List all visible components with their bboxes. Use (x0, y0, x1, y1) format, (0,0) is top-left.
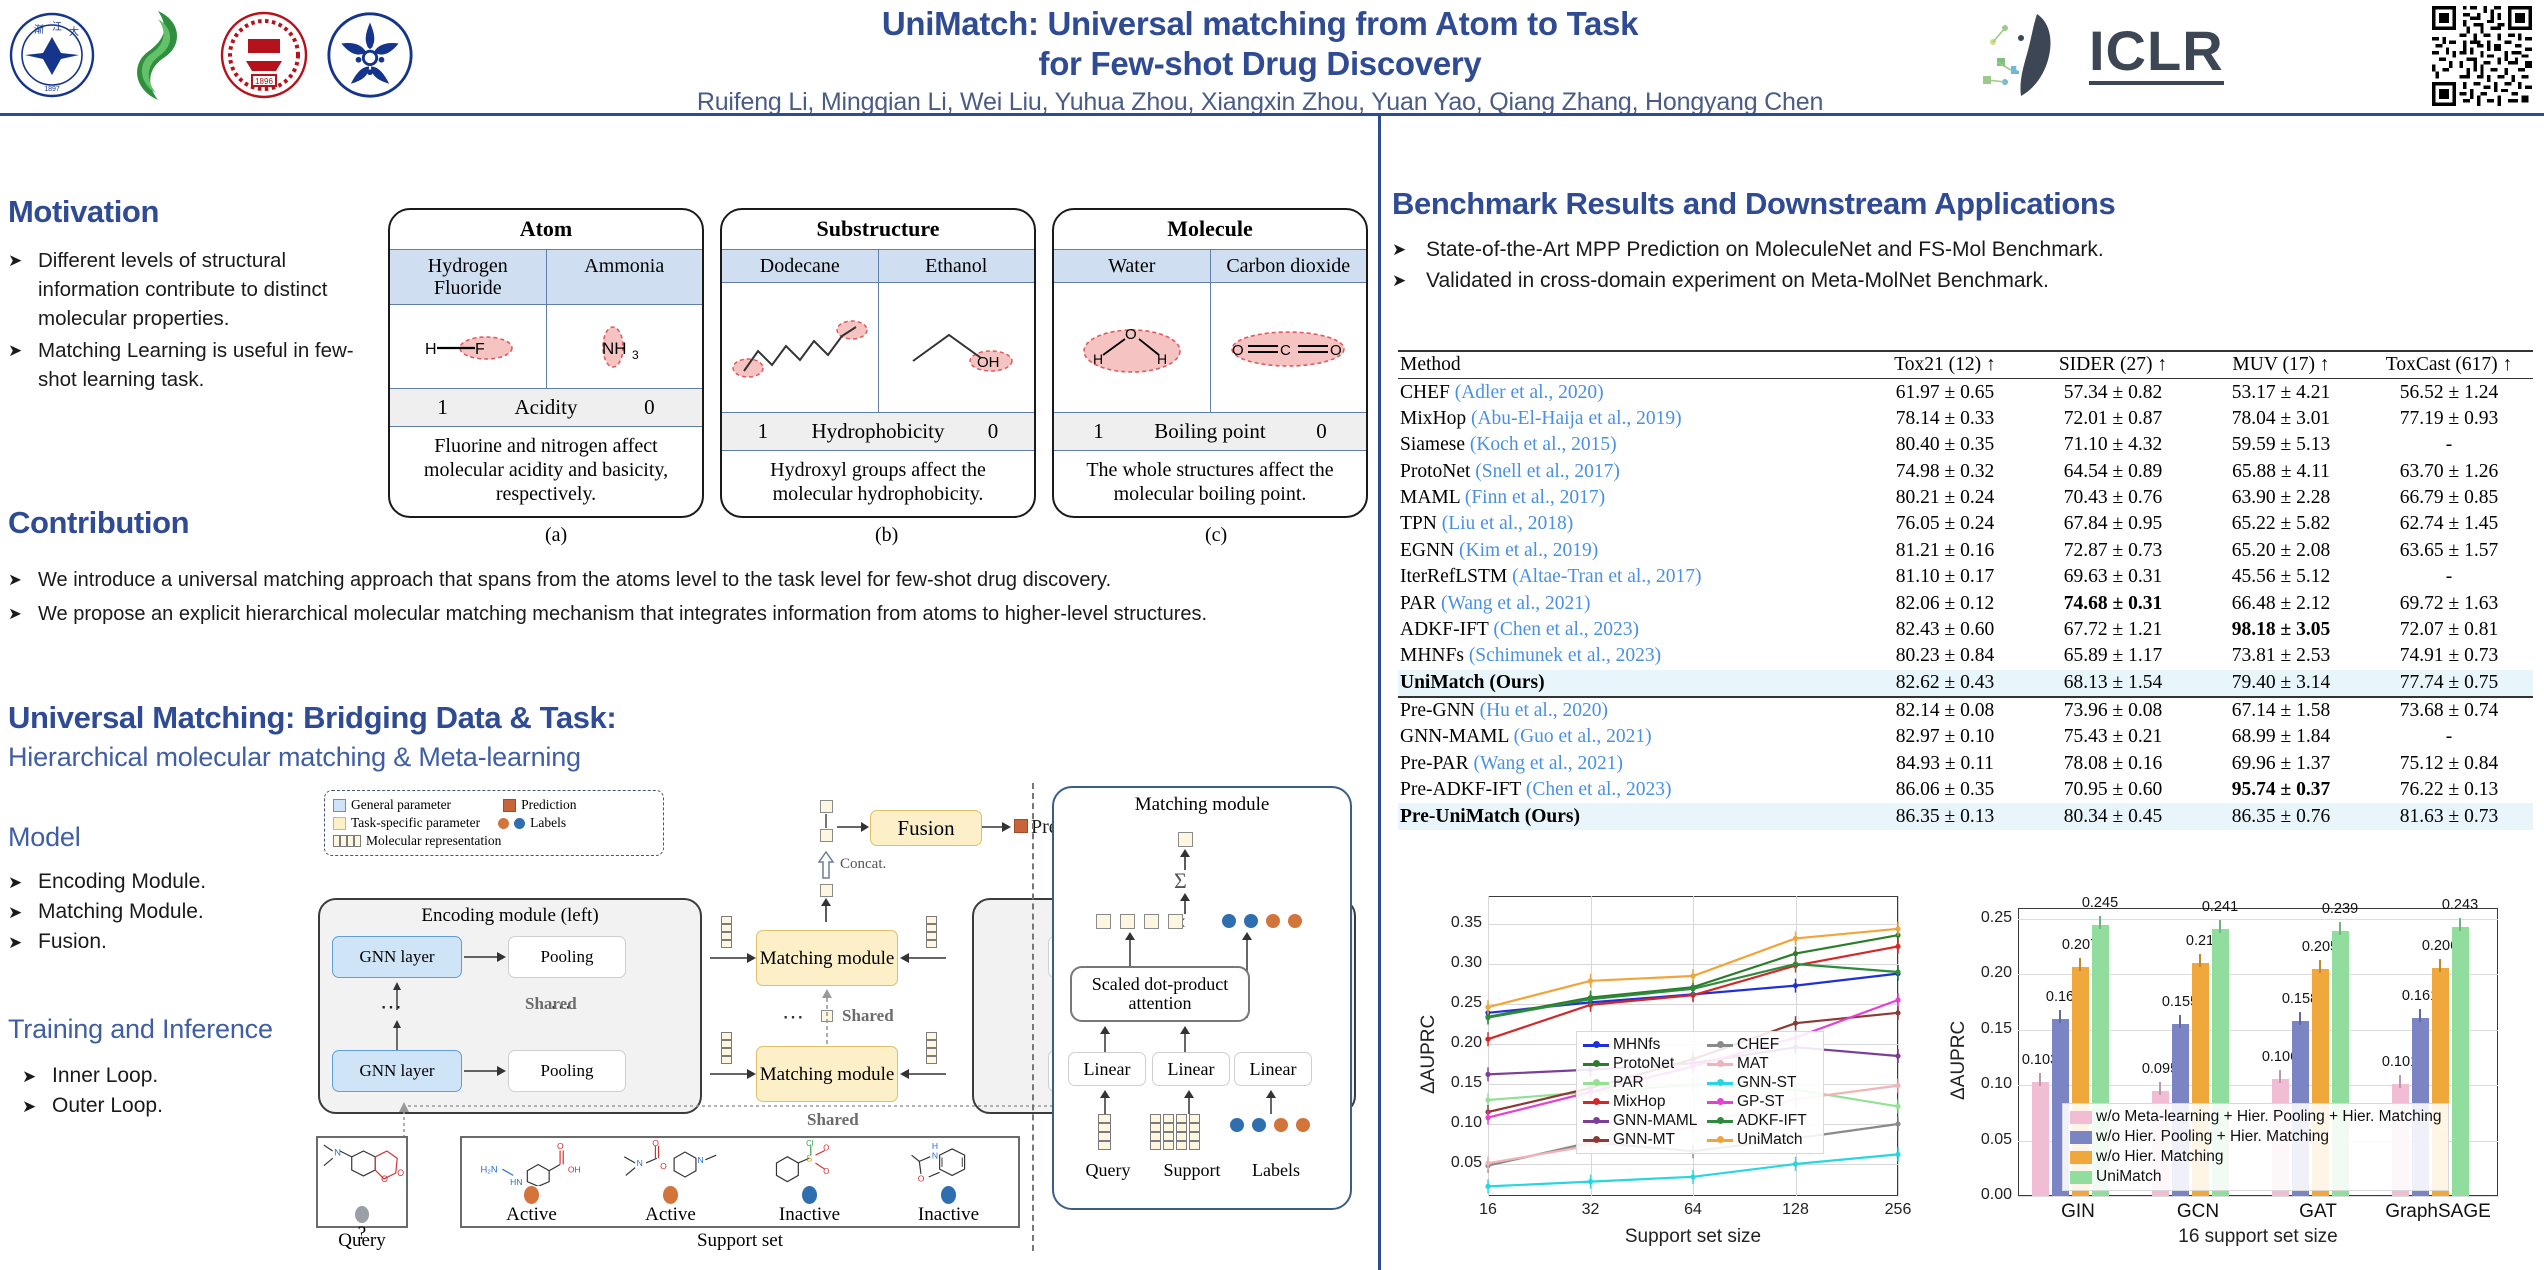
charts-area: 0.050.100.150.200.250.300.35163264128256… (1392, 878, 2542, 1270)
property-name: Hydrophobicity (811, 419, 944, 444)
linear-support: Linear (1152, 1052, 1230, 1086)
legend-label: w/o Meta-learning + Hier. Pooling + Hier… (2096, 1108, 2441, 1126)
cell-value: 74.91 ± 0.73 (2365, 643, 2533, 669)
bar-chart: 0.000.050.100.150.200.250.1030.160.2070.… (1922, 878, 2542, 1270)
citation: (Abu-El-Haija et al., 2019) (1471, 408, 1682, 429)
concat-up-arrow-icon (820, 898, 834, 922)
cell-value: 45.56 ± 5.12 (2197, 564, 2365, 590)
cell-method: ProtoNet (Snell et al., 2017) (1398, 459, 1861, 485)
y-tick-label: 0.10 (1430, 1114, 1482, 1132)
pooling-left-bottom: Pooling (508, 1050, 626, 1092)
mm-support-label: Support (1144, 1160, 1240, 1181)
legend-label: ADKF-IFT (1737, 1112, 1807, 1130)
gridline-x (1898, 896, 1899, 1196)
table-row: IterRefLSTM (Altae-Tran et al., 2017)81.… (1398, 564, 2533, 590)
x-tick-label: 16 (1466, 1201, 1510, 1219)
arrow-icon (1123, 930, 1137, 968)
active-label-dot-icon (663, 1186, 678, 1204)
svg-text:N: N (697, 1155, 703, 1165)
cell-value: 64.54 ± 0.89 (2029, 459, 2197, 485)
property-name: Acidity (514, 395, 577, 420)
cell-value: 74.68 ± 0.31 (2029, 590, 2197, 616)
support-item: H N O Inactive (879, 1138, 1018, 1226)
cell-value: 80.40 ± 0.35 (1861, 432, 2029, 458)
cell-value: 72.01 ± 0.87 (2029, 406, 2197, 432)
concat-output-token-icon (820, 884, 833, 897)
support-set-label: Support set (460, 1230, 1020, 1252)
cell-value: 68.13 ± 1.54 (2029, 670, 2197, 697)
label-blue-dot-icon (514, 818, 525, 829)
error-bar (2199, 954, 2201, 967)
model-bullet-list: Encoding Module. Matching Module. Fusion… (8, 867, 308, 957)
citation: (Guo et al., 2021) (1514, 726, 1652, 747)
panel-property-row: 1 Hydrophobicity 0 (722, 413, 1034, 451)
benchmark-bullet: State-of-the-Art MPP Prediction on Molec… (1392, 234, 2532, 265)
zhejiang-university-logo: 1897 渐 江 大 (8, 2, 96, 107)
arrow-icon (1098, 1088, 1112, 1114)
support-item: H₂N HN O OH Active (462, 1138, 601, 1226)
col-method: Method (1398, 351, 1861, 379)
cell-method: ADKF-IFT (Chen et al., 2023) (1398, 617, 1861, 643)
svg-text:O: O (397, 1168, 404, 1178)
table-row: TPN (Liu et al., 2018)76.05 ± 0.2467.84 … (1398, 511, 2533, 537)
header-divider (0, 113, 2544, 116)
x-tick-label: GCN (2138, 1201, 2258, 1223)
bar-value-label: 0.245 (2074, 895, 2126, 911)
citation: (Wang et al., 2021) (1441, 593, 1591, 614)
cell-method: CHEF (Adler et al., 2020) (1398, 379, 1861, 406)
cell-method: MHNFs (Schimunek et al., 2023) (1398, 643, 1861, 669)
legend-swatch-icon (2070, 1111, 2092, 1124)
mm-attention-tokens (1096, 914, 1183, 929)
mm-query-tokens-icon (1098, 1114, 1111, 1150)
mm-bottom-label-dots (1230, 1118, 1310, 1132)
svg-text:O: O (1125, 326, 1137, 343)
error-bar (2039, 1073, 2041, 1086)
legend-swatch-icon (1707, 1082, 1733, 1085)
universal-matching-section: Universal Matching: Bridging Data & Task… (8, 700, 908, 773)
x-tick-label: 256 (1876, 1201, 1920, 1219)
property-value-left: 1 (758, 419, 769, 444)
svg-text:O: O (917, 1174, 924, 1184)
support-item: S Cl O O Inactive (740, 1138, 879, 1226)
cell-value: 65.88 ± 4.11 (2197, 459, 2365, 485)
legend-swatch-icon (1707, 1101, 1733, 1104)
cell-value: 65.89 ± 1.17 (2029, 643, 2197, 669)
dodecane-structure-icon (722, 283, 879, 412)
cell-method: Pre-GNN (Hu et al., 2020) (1398, 697, 1861, 724)
x-tick-label: 64 (1671, 1201, 1715, 1219)
property-value-right: 0 (1316, 419, 1327, 444)
svg-text:大: 大 (69, 25, 79, 38)
ammonia-structure-icon: NH 3 (547, 305, 703, 388)
molecule-name: Hydrogen Fluoride (390, 250, 547, 304)
arrow-icon (464, 949, 508, 965)
molecule-name: Water (1054, 250, 1211, 282)
arrow-icon (1182, 1088, 1196, 1114)
svg-text:江: 江 (52, 21, 62, 33)
water-structure-icon: O H H (1054, 283, 1211, 412)
cell-value: 69.63 ± 0.31 (2029, 564, 2197, 590)
cell-value: 72.07 ± 0.81 (2365, 617, 2533, 643)
svg-text:3: 3 (632, 348, 639, 362)
cell-value: 72.87 ± 0.73 (2029, 538, 2197, 564)
property-value-right: 0 (988, 419, 999, 444)
fusion-node: Fusion (870, 810, 982, 846)
citation: (Chen et al., 2023) (1526, 779, 1672, 800)
cell-value: 75.43 ± 0.21 (2029, 724, 2197, 750)
cell-method: TPN (Liu et al., 2018) (1398, 511, 1861, 537)
cell-value: 70.95 ± 0.60 (2029, 777, 2197, 803)
cell-value: 81.63 ± 0.73 (2365, 803, 2533, 829)
cell-value: 67.72 ± 1.21 (2029, 617, 2197, 643)
y-tick-label: 0.30 (1430, 954, 1482, 972)
citation: (Altae-Tran et al., 2017) (1512, 566, 1701, 587)
legend-label: CHEF (1737, 1036, 1779, 1054)
legend-item: UniMatch (1707, 1131, 1817, 1149)
training-inference-subsection: Training and Inference Inner Loop. Outer… (8, 1014, 328, 1121)
cell-value: 65.20 ± 2.08 (2197, 538, 2365, 564)
panel-molecule-names: Water Carbon dioxide (1054, 249, 1366, 283)
diagram-legend: General parameter Prediction Task-specif… (324, 790, 664, 856)
citation: (Snell et al., 2017) (1475, 461, 1620, 482)
cell-value: 73.81 ± 2.53 (2197, 643, 2365, 669)
x-tick-label: GAT (2258, 1201, 2378, 1223)
svg-text:N: N (931, 1150, 937, 1160)
svg-text:N: N (636, 1158, 642, 1168)
university-logos: 1897 渐 江 大 1896 (8, 2, 414, 107)
property-value-left: 1 (1093, 419, 1104, 444)
motivation-bullet-list: Different levels of structural informati… (8, 246, 388, 394)
query-molecule-box: N O O ? (316, 1136, 408, 1228)
molecular-representation-icon (926, 916, 937, 948)
legend-item: GP-ST (1707, 1093, 1817, 1111)
matching-module-top: Matching module (756, 930, 898, 986)
legend-label: Prediction (521, 796, 577, 814)
universal-matching-heading: Universal Matching: Bridging Data & Task… (8, 700, 908, 736)
legend-label: ProtoNet (1613, 1055, 1674, 1073)
legend-label: MAT (1737, 1055, 1769, 1073)
poster-title-block: UniMatch: Universal matching from Atom t… (560, 4, 1960, 118)
cell-value: 77.19 ± 0.93 (2365, 406, 2533, 432)
legend-label: PAR (1613, 1074, 1644, 1092)
cell-method: MAML (Finn et al., 2017) (1398, 485, 1861, 511)
molecular-representation-swatch-icon (333, 835, 361, 847)
cell-value: 80.21 ± 0.24 (1861, 485, 2029, 511)
iclr-mark-icon (1975, 8, 2083, 100)
line-chart-legend: MHNfsCHEFProtoNetMATPARGNN-STMixHopGP-ST… (1576, 1031, 1824, 1154)
gridline-y (2018, 1196, 2498, 1197)
legend-label: w/o Hier. Matching (2096, 1148, 2224, 1166)
legend-item: ProtoNet (1583, 1055, 1701, 1073)
cell-value: 67.84 ± 0.95 (2029, 511, 2197, 537)
cell-value: 63.90 ± 2.28 (2197, 485, 2365, 511)
cell-value: - (2365, 724, 2533, 750)
svg-text:H: H (931, 1141, 937, 1151)
cell-value: 59.59 ± 5.13 (2197, 432, 2365, 458)
support-label: Inactive (918, 1204, 979, 1226)
cell-value: 82.62 ± 0.43 (1861, 670, 2029, 697)
inactive-label-dot-icon (941, 1186, 956, 1204)
col-muv: MUV (17) ↑ (2197, 351, 2365, 379)
benchmark-bullet-list: State-of-the-Art MPP Prediction on Molec… (1392, 234, 2532, 296)
contribution-heading: Contribution (8, 505, 1368, 541)
benchmark-bullet: Validated in cross-domain experiment on … (1392, 265, 2532, 296)
molecular-representation-icon (721, 916, 732, 948)
svg-text:Cl: Cl (806, 1139, 814, 1148)
cell-value: 71.10 ± 4.32 (2029, 432, 2197, 458)
cell-value: 80.34 ± 0.45 (2029, 803, 2197, 829)
cell-method: MixHop (Abu-El-Haija et al., 2019) (1398, 406, 1861, 432)
error-bar (2179, 1015, 2181, 1028)
molecule-name: Ammonia (547, 250, 703, 304)
arrow-icon (898, 950, 946, 966)
support-item: N O O N Active (601, 1138, 740, 1226)
panel-structures: OH (722, 283, 1034, 413)
gridline-x (1488, 896, 1489, 1196)
citation: (Chen et al., 2023) (1493, 619, 1639, 640)
support-label: Active (506, 1204, 557, 1226)
unknown-label-dot-icon (355, 1206, 369, 1223)
cell-value: 73.68 ± 0.74 (2365, 697, 2533, 724)
cell-value: 86.35 ± 0.13 (1861, 803, 2029, 829)
cell-value: 81.10 ± 0.17 (1861, 564, 2029, 590)
cell-value: 78.04 ± 3.01 (2197, 406, 2365, 432)
poster-title-line2: for Few-shot Drug Discovery (560, 44, 1960, 84)
molecule-name: Ethanol (879, 250, 1035, 282)
cell-value: 75.12 ± 0.84 (2365, 751, 2533, 777)
cell-value: 82.06 ± 0.12 (1861, 590, 2029, 616)
legend-item: PAR (1583, 1074, 1701, 1092)
concat-arrow-icon (815, 850, 839, 880)
universal-matching-subheading: Hierarchical molecular matching & Meta-l… (8, 742, 908, 773)
property-value-left: 1 (437, 395, 448, 420)
matching-module-detail-title: Matching module (1054, 788, 1350, 816)
benchmark-heading: Benchmark Results and Downstream Applica… (1392, 186, 2532, 222)
linear-labels: Linear (1234, 1052, 1312, 1086)
shared-dashed-arrow-icon (817, 986, 837, 1048)
cell-value: - (2365, 432, 2533, 458)
panel-structures: H F NH 3 (390, 305, 702, 389)
y-tick-label: 0.05 (1430, 1154, 1482, 1172)
x-tick-label: GraphSAGE (2378, 1201, 2498, 1223)
gnn-layer-left-bottom: GNN layer (332, 1050, 462, 1092)
bar-value-label: 0.243 (2434, 897, 2486, 913)
svg-text:1896: 1896 (255, 77, 273, 86)
molecule-comparison-panels: Atom Hydrogen Fluoride Ammonia H F (388, 208, 1368, 518)
legend-label: General parameter (351, 796, 451, 814)
arrow-icon (1178, 1024, 1192, 1054)
error-bar (2099, 916, 2101, 929)
detail-divider (1032, 783, 1034, 1251)
col-toxcast: ToxCast (617) ↑ (2365, 351, 2533, 379)
fusion-input-token-icon (820, 800, 833, 813)
x-tick-label: 32 (1569, 1201, 1613, 1219)
legend-item: MAT (1707, 1055, 1817, 1073)
cell-method: Pre-UniMatch (Ours) (1398, 803, 1861, 829)
cell-value: 82.14 ± 0.08 (1861, 697, 2029, 724)
fusion-connector (825, 814, 827, 828)
molecular-representation-icon (721, 1032, 732, 1064)
stack-arrow-icon (390, 980, 404, 1052)
fusion-input-token-icon (820, 829, 833, 842)
arrow-icon (1098, 1024, 1112, 1054)
legend-swatch-icon (1583, 1101, 1609, 1104)
carbon-dioxide-structure-icon: O C O (1211, 283, 1367, 412)
legend-label: GP-ST (1737, 1093, 1784, 1111)
prediction-swatch-icon (1014, 819, 1028, 833)
legend-item: GNN-MAML (1583, 1112, 1701, 1130)
ethanol-structure-icon: OH (879, 283, 1035, 412)
citation: (Liu et al., 2018) (1442, 513, 1574, 534)
shared-label-middle: Shared (842, 1006, 894, 1026)
column-divider (1378, 116, 1381, 1270)
mm-support-matrix-icon (1150, 1114, 1200, 1150)
pooling-left-top: Pooling (508, 936, 626, 978)
cell-value: 57.34 ± 0.82 (2029, 379, 2197, 406)
svg-text:N: N (334, 1147, 341, 1158)
error-bar (2339, 922, 2341, 935)
table-row: CHEF (Adler et al., 2020)61.97 ± 0.6557.… (1398, 379, 2533, 406)
error-bar (2399, 1075, 2401, 1088)
arrow-icon (710, 950, 758, 966)
active-label-dot-icon (524, 1186, 539, 1204)
line-chart: 0.050.100.150.200.250.300.35163264128256… (1392, 878, 1932, 1270)
legend-item: w/o Hier. Matching (2070, 1148, 2441, 1166)
legend-swatch-icon (1707, 1120, 1733, 1123)
gnn-layer-left-top: GNN layer (332, 936, 462, 978)
arrow-icon (710, 1066, 758, 1082)
cell-method: GNN-MAML (Guo et al., 2021) (1398, 724, 1861, 750)
cell-value: 73.96 ± 0.08 (2029, 697, 2197, 724)
cell-value: 77.74 ± 0.75 (2365, 670, 2533, 697)
bar-value-label: 0.241 (2194, 899, 2246, 915)
cell-value: 98.18 ± 3.05 (2197, 617, 2365, 643)
model-bullet: Encoding Module. (8, 867, 308, 897)
error-bar (2299, 1012, 2301, 1025)
legend-swatch-icon (1583, 1082, 1609, 1085)
query-label: Query (316, 1230, 408, 1252)
atom-panel: Atom Hydrogen Fluoride Ammonia H F (388, 208, 704, 518)
legend-label: GNN-MAML (1613, 1112, 1697, 1130)
error-bar (2219, 920, 2221, 933)
support-set-box: H₂N HN O OH Active N (460, 1136, 1020, 1228)
mm-query-label: Query (1060, 1160, 1156, 1181)
cell-value: 81.21 ± 0.16 (1861, 538, 2029, 564)
legend-item: UniMatch (2070, 1168, 2441, 1186)
cell-value: 82.43 ± 0.60 (1861, 617, 2029, 643)
legend-label: w/o Hier. Pooling + Hier. Matching (2096, 1128, 2329, 1146)
molecule-name: Dodecane (722, 250, 879, 282)
legend-item: w/o Meta-learning + Hier. Pooling + Hier… (2070, 1108, 2441, 1126)
cell-value: 76.05 ± 0.24 (1861, 511, 2029, 537)
training-heading: Training and Inference (8, 1014, 328, 1045)
cell-value: 66.48 ± 2.12 (2197, 590, 2365, 616)
cell-value: - (2365, 564, 2533, 590)
error-bar (2059, 1010, 2061, 1023)
support-label: Active (645, 1204, 696, 1226)
cell-value: 56.52 ± 1.24 (2365, 379, 2533, 406)
table-row: GNN-MAML (Guo et al., 2021)82.97 ± 0.107… (1398, 724, 2533, 750)
legend-item: GNN-ST (1707, 1074, 1817, 1092)
legend-label: MHNfs (1613, 1036, 1660, 1054)
green-leaf-logo (114, 2, 202, 107)
cell-value: 76.22 ± 0.13 (2365, 777, 2533, 803)
general-parameter-swatch-icon (333, 799, 346, 812)
table-row: Pre-GNN (Hu et al., 2020)82.14 ± 0.0873.… (1398, 697, 2533, 724)
cell-value: 68.99 ± 1.84 (2197, 724, 2365, 750)
encoder-left-title: Encoding module (left) (320, 900, 700, 927)
fusion-arrow-icon (835, 818, 869, 836)
linear-query: Linear (1068, 1052, 1146, 1086)
scaled-dot-product-attention-node: Scaled dot-product attention (1070, 966, 1250, 1022)
svg-text:F: F (475, 341, 485, 358)
svg-text:HN: HN (510, 1177, 522, 1187)
svg-text:O: O (556, 1141, 563, 1151)
table-row: ProtoNet (Snell et al., 2017)74.98 ± 0.3… (1398, 459, 2533, 485)
legend-label: Molecular representation (366, 832, 501, 850)
cell-value: 67.14 ± 1.58 (2197, 697, 2365, 724)
legend-label: UniMatch (2096, 1168, 2161, 1186)
svg-text:O: O (823, 1167, 829, 1176)
col-tox21: Tox21 (12) ↑ (1861, 351, 2029, 379)
mm-label-dots (1222, 914, 1302, 928)
x-tick-label: GIN (2018, 1201, 2138, 1223)
cell-value: 78.14 ± 0.33 (1861, 406, 2029, 432)
motivation-bullet: Different levels of structural informati… (8, 246, 388, 333)
legend-swatch-icon (1583, 1044, 1609, 1047)
cell-method: UniMatch (Ours) (1398, 670, 1861, 697)
legend-label: Labels (530, 814, 566, 832)
panel-molecule-names: Hydrogen Fluoride Ammonia (390, 249, 702, 305)
bar (2032, 1082, 2049, 1196)
svg-text:H: H (1157, 351, 1167, 367)
svg-text:1897: 1897 (44, 86, 60, 93)
legend-label: GNN-ST (1737, 1074, 1796, 1092)
sum-symbol: Σ (1174, 868, 1187, 894)
iclr-wordmark: ICLR (2089, 23, 2224, 85)
bar-value-label: 0.239 (2314, 901, 2366, 917)
benchmark-results-table: Method Tox21 (12) ↑ SIDER (27) ↑ MUV (17… (1398, 350, 2533, 830)
cell-value: 63.70 ± 1.26 (2365, 459, 2533, 485)
svg-text:H₂N: H₂N (480, 1164, 497, 1174)
legend-item: GNN-MT (1583, 1131, 1701, 1149)
y-axis-label: ΔAUPRC (1418, 1015, 1440, 1094)
shanghai-jiao-tong-university-logo: 1896 (220, 2, 308, 107)
training-bullet: Outer Loop. (22, 1091, 328, 1121)
cell-value: 66.79 ± 0.85 (2365, 485, 2533, 511)
legend-item: w/o Hier. Pooling + Hier. Matching (2070, 1128, 2441, 1146)
cell-value: 61.97 ± 0.65 (1861, 379, 2029, 406)
contribution-bullet: We propose an explicit hierarchical mole… (8, 599, 1368, 629)
cell-value: 95.74 ± 0.37 (2197, 777, 2365, 803)
svg-text:H: H (425, 341, 437, 358)
contribution-bullet: We introduce a universal matching approa… (8, 565, 1368, 595)
cell-method: PAR (Wang et al., 2021) (1398, 590, 1861, 616)
panel-property-row: 1 Acidity 0 (390, 389, 702, 427)
cell-value: 84.93 ± 0.11 (1861, 751, 2029, 777)
svg-text:S: S (806, 1153, 812, 1163)
x-tick-label: 128 (1774, 1201, 1818, 1219)
table-row: MixHop (Abu-El-Haija et al., 2019)78.14 … (1398, 406, 2533, 432)
panel-title: Substructure (722, 210, 1034, 249)
arrow-icon (464, 1063, 508, 1079)
concat-label: Concat. (840, 856, 886, 873)
contribution-bullet-list: We introduce a universal matching approa… (8, 565, 1368, 629)
cell-value: 86.35 ± 0.76 (2197, 803, 2365, 829)
svg-text:NH: NH (602, 339, 627, 358)
cell-value: 82.97 ± 0.10 (1861, 724, 2029, 750)
